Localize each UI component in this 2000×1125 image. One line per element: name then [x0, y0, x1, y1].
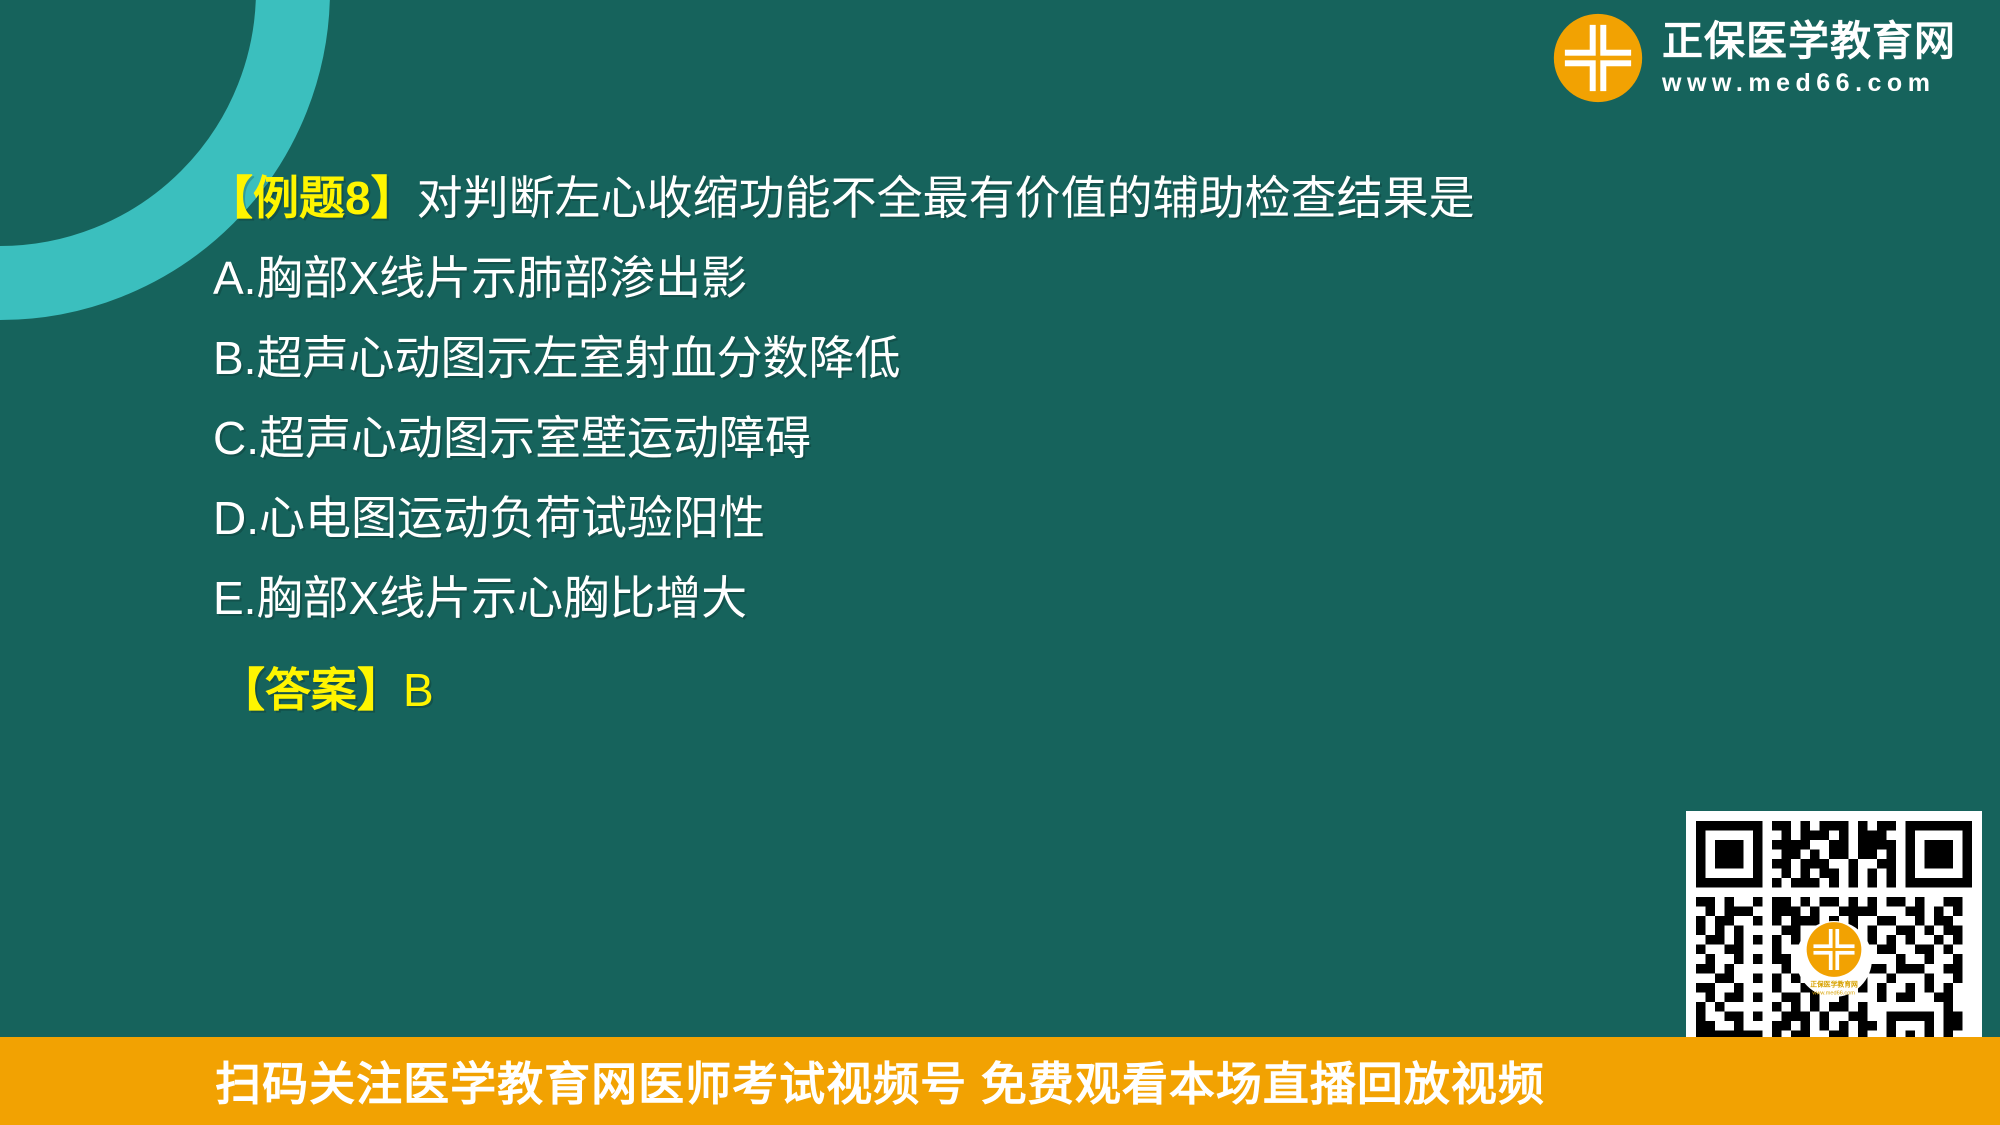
brand-logo-text: 正保医学教育网 www.med66.com	[1662, 21, 1956, 96]
answer-line: 【答案】B	[219, 650, 1613, 730]
answer-value: B	[403, 664, 434, 716]
option-c[interactable]: C.超声心动图示室壁运动障碍	[213, 398, 1613, 478]
answer-label: 【答案】	[219, 664, 403, 716]
slide-root: 正保医学教育网 www.med66.com 【例题8】对判断左心收缩功能不全最有…	[0, 0, 2000, 1125]
med66-cross-icon	[1552, 12, 1644, 104]
question-stem: 对判断左心收缩功能不全最有价值的辅助检查结果是	[417, 172, 1475, 224]
brand-name: 正保医学教育网	[1662, 21, 1956, 62]
qr-med66-cross-icon	[1796, 921, 1872, 978]
option-e[interactable]: E.胸部X线片示心胸比增大	[213, 558, 1613, 638]
question-block: 【例题8】对判断左心收缩功能不全最有价值的辅助检查结果是 A.胸部X线片示肺部渗…	[213, 158, 1613, 730]
option-b[interactable]: B.超声心动图示左室射血分数降低	[213, 318, 1613, 398]
qr-center-url: www.med66.com	[1813, 991, 1856, 997]
question-stem-line: 【例题8】对判断左心收缩功能不全最有价值的辅助检查结果是	[207, 158, 1613, 238]
qr-center-logo: 正保医学教育网 www.med66.com	[1796, 921, 1872, 997]
qr-center-name: 正保医学教育网	[1810, 980, 1858, 989]
bottom-banner: 扫码关注医学教育网医师考试视频号 免费观看本场直播回放视频	[0, 1037, 2000, 1125]
brand-logo: 正保医学教育网 www.med66.com	[1552, 12, 1956, 104]
brand-url: www.med66.com	[1662, 71, 1935, 96]
option-a[interactable]: A.胸部X线片示肺部渗出影	[213, 238, 1613, 318]
question-tag: 【例题8】	[207, 172, 417, 224]
option-d[interactable]: D.心电图运动负荷试验阳性	[213, 478, 1613, 558]
banner-text: 扫码关注医学教育网医师考试视频号 免费观看本场直播回放视频	[215, 1048, 1545, 1114]
